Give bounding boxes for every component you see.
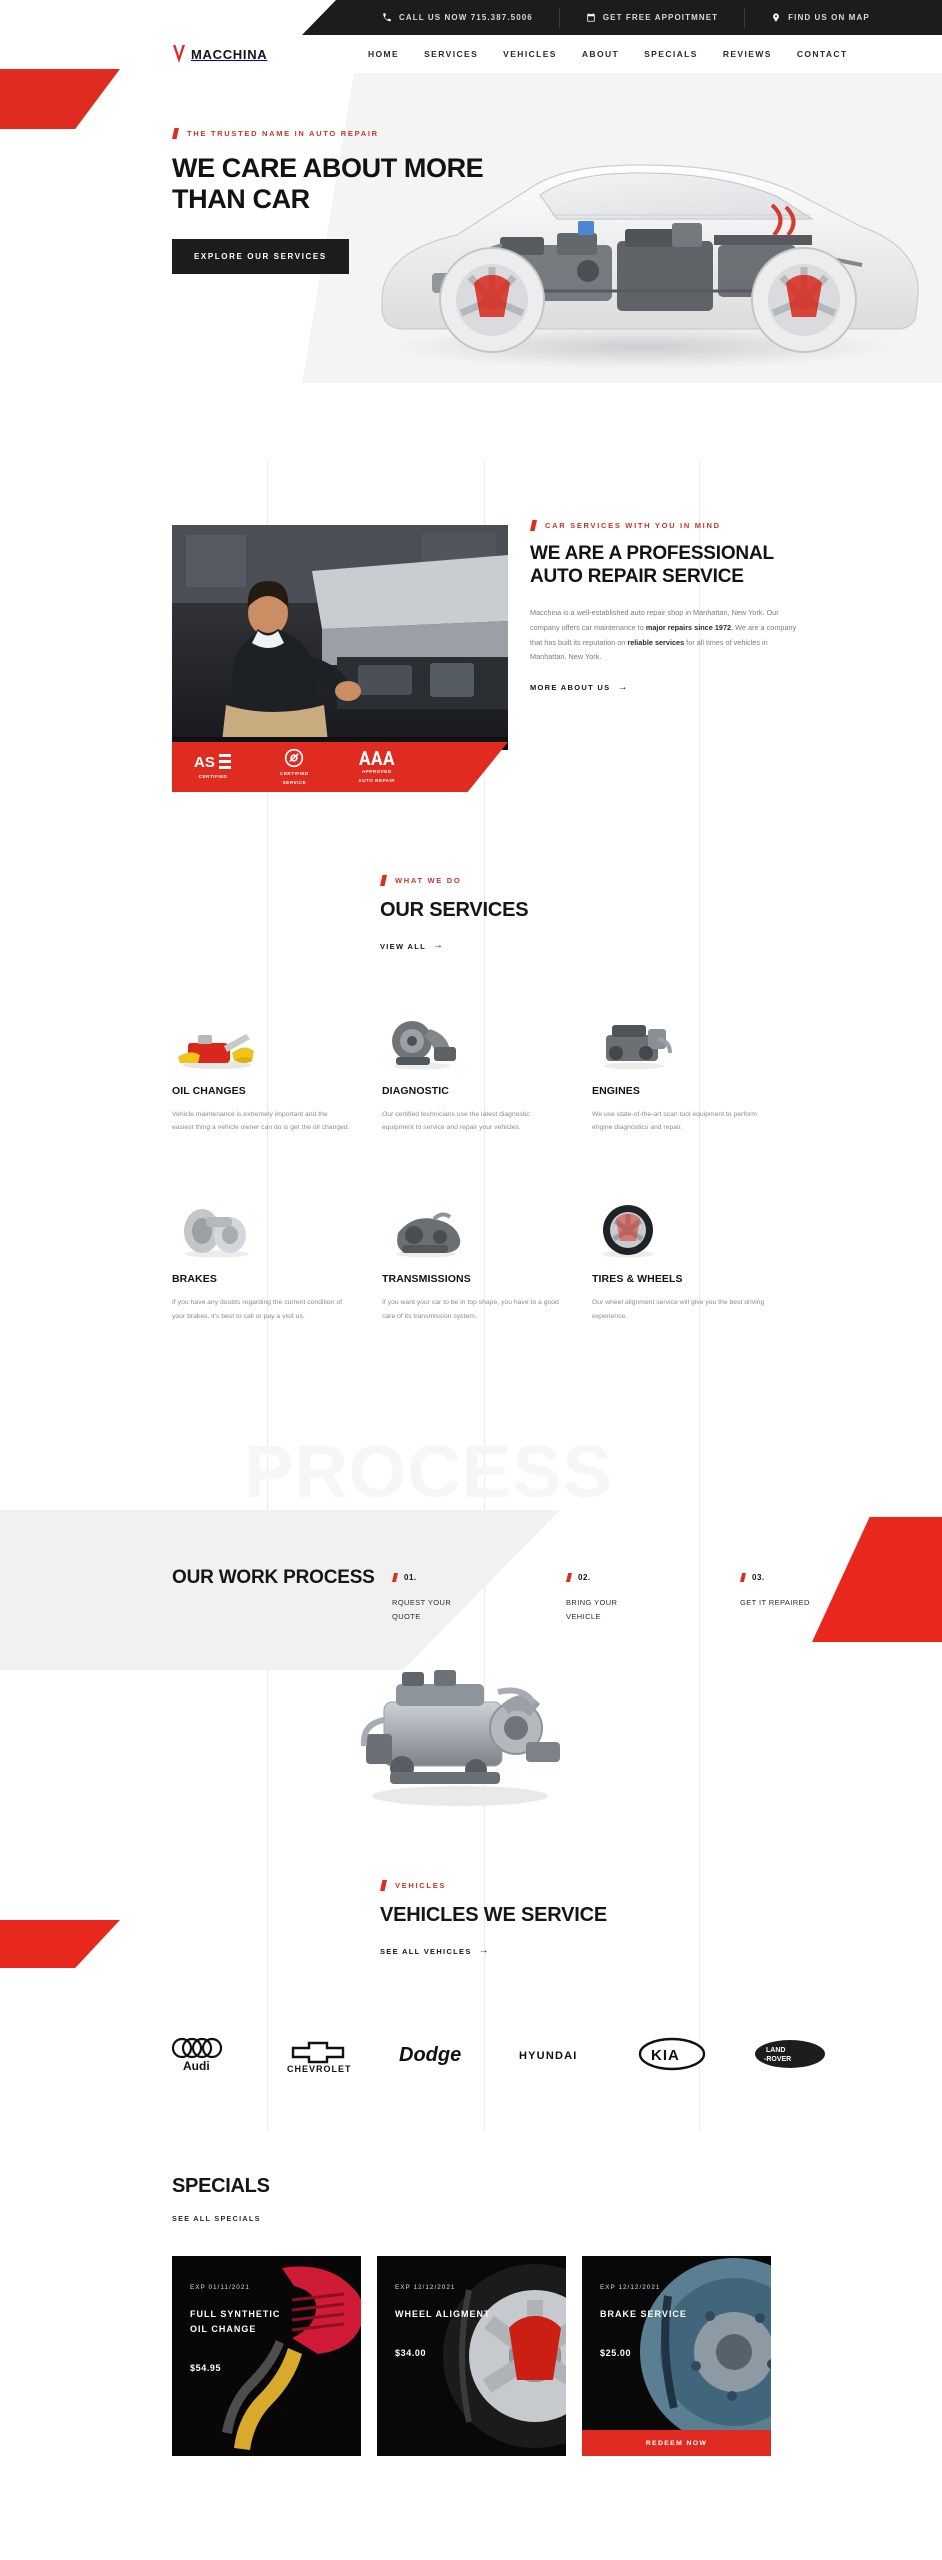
process-section: PROCESS OUR WORK PROCESS 01. RQUEST YOUR… — [0, 1455, 942, 1825]
hero-kicker: THE TRUSTED NAME IN AUTO REPAIR — [172, 128, 512, 139]
vehicles-kicker-label: VEHICLES — [395, 1881, 446, 1890]
process-engine-image — [330, 1650, 590, 1810]
svg-text:AS: AS — [194, 754, 215, 771]
service-card-transmissions[interactable]: TRANSMISSIONS If you want your car to be… — [382, 1197, 560, 1324]
special-expiry: EXP 01/11/2021 — [190, 2284, 361, 2291]
audi-logo[interactable]: Audi — [150, 2031, 250, 2077]
about-title: WE ARE A PROFESSIONAL AUTO REPAIR SERVIC… — [530, 542, 800, 588]
slash-icon — [566, 1573, 572, 1582]
special-price: $54.95 — [190, 2363, 361, 2373]
ase-badge-label: CERTIFIED — [199, 774, 228, 780]
nav-item-vehicles[interactable]: VEHICLES — [503, 49, 557, 59]
find-us-label: FIND US ON MAP — [788, 13, 870, 22]
service-desc: Our wheel alignment service will give yo… — [592, 1296, 770, 1324]
special-title: FULL SYNTHETIC OIL CHANGE — [190, 2307, 300, 2337]
about-b2: reliable services — [627, 638, 684, 647]
service-title: OIL CHANGES — [172, 1085, 350, 1097]
hero-content: THE TRUSTED NAME IN AUTO REPAIR WE CARE … — [172, 128, 512, 274]
vehicle-brand-logos: Audi CHEVROLET Dodge HYUNDAI — [150, 2031, 840, 2077]
process-ghost-text: PROCESS — [244, 1435, 613, 1509]
nav-item-home[interactable]: HOME — [368, 49, 399, 59]
slash-icon — [380, 875, 387, 886]
process-steps: 01. RQUEST YOUR QUOTE 02. BRING YOUR VEH… — [392, 1573, 825, 1624]
service-desc: Vehicle maintenance is extremely importa… — [172, 1108, 350, 1136]
process-step-number: 01. — [392, 1573, 477, 1582]
special-price: $34.00 — [395, 2348, 566, 2358]
svg-text:KIA: KIA — [651, 2047, 680, 2064]
step-number-label: 01. — [404, 1573, 417, 1582]
slash-icon — [380, 1880, 387, 1891]
service-card-diagnostic[interactable]: DIAGNOSTIC Our certified technicians use… — [382, 1009, 560, 1136]
call-us-link[interactable]: CALL US NOW 715.387.5006 — [382, 12, 533, 23]
divider — [559, 8, 560, 28]
step-label: RQUEST YOUR QUOTE — [392, 1596, 477, 1624]
certified-badge-l1: CERTIFIED — [280, 771, 309, 777]
see-all-vehicles-label: SEE ALL VEHICLES — [380, 1947, 472, 1956]
arrow-right-icon: → — [433, 941, 444, 951]
service-title: TIRES & WHEELS — [592, 1273, 770, 1285]
mechanic-photo — [172, 525, 508, 750]
process-step-1: 01. RQUEST YOUR QUOTE — [392, 1573, 477, 1624]
hero-kicker-label: THE TRUSTED NAME IN AUTO REPAIR — [187, 129, 379, 138]
turbocharger-icon — [382, 1009, 560, 1071]
engine-icon — [592, 1009, 770, 1071]
svg-text:-ROVER: -ROVER — [764, 2056, 791, 2063]
main-nav: HOME SERVICES VEHICLES ABOUT SPECIALS RE… — [368, 49, 848, 59]
shield-check-icon — [284, 748, 304, 768]
svg-text:HYUNDAI: HYUNDAI — [519, 2050, 578, 2062]
special-card-brake-service[interactable]: EXP 12/12/2021 BRAKE SERVICE $25.00 REDE… — [582, 2256, 771, 2456]
service-desc: Our certified technicians use the latest… — [382, 1108, 560, 1136]
services-kicker: WHAT WE DO — [380, 875, 942, 886]
special-card-oil-change[interactable]: EXP 01/11/2021 FULL SYNTHETIC OIL CHANGE… — [172, 2256, 361, 2456]
service-desc: If you want your car to be in top shape,… — [382, 1296, 560, 1324]
hero-section: THE TRUSTED NAME IN AUTO REPAIR WE CARE … — [0, 73, 942, 453]
process-step-2: 02. BRING YOUR VEHICLE — [566, 1573, 651, 1624]
wheel-icon — [592, 1197, 770, 1259]
special-title: BRAKE SERVICE — [600, 2307, 710, 2322]
vehicles-kicker: VEHICLES — [380, 1880, 942, 1891]
aaa-approved-badge: APPROVED AUTO REPAIR — [357, 750, 397, 784]
nav-item-about[interactable]: ABOUT — [582, 49, 619, 59]
svg-text:Audi: Audi — [183, 2059, 210, 2073]
nav-item-contact[interactable]: CONTACT — [797, 49, 848, 59]
view-all-label: VIEW ALL — [380, 942, 426, 951]
special-content: EXP 12/12/2021 BRAKE SERVICE $25.00 — [582, 2256, 771, 2358]
phone-icon — [382, 12, 392, 23]
more-about-us-label: MORE ABOUT US — [530, 683, 610, 692]
special-price: $25.00 — [600, 2348, 771, 2358]
transmission-icon — [382, 1197, 560, 1259]
special-expiry: EXP 12/12/2021 — [395, 2284, 566, 2291]
process-step-3: 03. GET IT REPAIRED — [740, 1573, 825, 1624]
about-section: AS CERTIFIED CERTIFIED SERVICE — [0, 520, 942, 820]
utility-bar: CALL US NOW 715.387.5006 GET FREE APPOIT… — [0, 0, 942, 35]
oil-can-icon — [172, 1009, 350, 1071]
hero-title: WE CARE ABOUT MORE THAN CAR — [172, 153, 512, 215]
landrover-logo[interactable]: LAND -ROVER — [740, 2031, 840, 2077]
divider — [744, 8, 745, 28]
special-card-wheel-alignment[interactable]: EXP 12/12/2021 WHEEL ALIGMENT $34.00 — [377, 2256, 566, 2456]
vehicles-header: VEHICLES VEHICLES WE SERVICE SEE ALL VEH… — [380, 1880, 942, 1959]
process-title: OUR WORK PROCESS — [172, 1565, 375, 1591]
brake-disc-icon — [172, 1197, 350, 1259]
aaa-badge-l1: APPROVED — [362, 769, 392, 775]
slash-icon — [530, 520, 537, 531]
landing-page: CALL US NOW 715.387.5006 GET FREE APPOIT… — [0, 0, 942, 2560]
call-us-label: CALL US NOW 715.387.5006 — [399, 13, 533, 22]
ase-certified-badge: AS CERTIFIED — [194, 753, 232, 780]
view-all-services-link[interactable]: VIEW ALL → — [380, 941, 444, 951]
aaa-badge-l2: AUTO REPAIR — [358, 778, 395, 784]
service-title: DIAGNOSTIC — [382, 1085, 560, 1097]
site-header: MACCHINA HOME SERVICES VEHICLES ABOUT SP… — [0, 35, 942, 73]
calendar-icon — [586, 12, 596, 23]
brand-name: MACCHINA — [191, 47, 267, 62]
special-expiry: EXP 12/12/2021 — [600, 2284, 771, 2291]
services-section: WHAT WE DO OUR SERVICES VIEW ALL → — [0, 875, 942, 1324]
redeem-now-button[interactable]: REDEEM NOW — [582, 2430, 771, 2456]
explore-services-button[interactable]: EXPLORE OUR SERVICES — [172, 239, 349, 274]
about-kicker: CAR SERVICES WITH YOU IN MIND — [530, 520, 800, 531]
step-number-label: 02. — [578, 1573, 591, 1582]
v-logo-icon — [172, 44, 186, 64]
kia-logo[interactable]: KIA — [622, 2031, 722, 2077]
dodge-logo[interactable]: Dodge — [386, 2031, 486, 2077]
service-desc: If you have any doubts regarding the cur… — [172, 1296, 350, 1324]
vehicles-red-accent — [0, 1920, 120, 1968]
find-us-link[interactable]: FIND US ON MAP — [771, 12, 870, 23]
certified-service-badge: CERTIFIED SERVICE — [280, 748, 309, 786]
certification-badges: AS CERTIFIED CERTIFIED SERVICE — [172, 742, 508, 792]
see-all-specials-link[interactable]: SEE ALL SPECIALS — [172, 2214, 261, 2223]
nav-item-reviews[interactable]: REVIEWS — [723, 49, 772, 59]
nav-item-services[interactable]: SERVICES — [424, 49, 478, 59]
aaa-logo-icon — [357, 750, 397, 766]
services-grid: OIL CHANGES Vehicle maintenance is extre… — [172, 1009, 772, 1325]
arrow-right-icon: → — [479, 1946, 490, 1956]
svg-text:Dodge: Dodge — [399, 2044, 461, 2066]
about-b1: major repairs since 1972 — [646, 623, 731, 632]
process-step-number: 03. — [740, 1573, 825, 1582]
step-number-label: 03. — [752, 1573, 765, 1582]
appointment-label: GET FREE APPOITMNET — [603, 13, 718, 22]
service-card-brakes[interactable]: BRAKES If you have any doubts regarding … — [172, 1197, 350, 1324]
ase-logo-icon: AS — [194, 753, 232, 771]
brand-logo[interactable]: MACCHINA — [172, 44, 267, 64]
services-kicker-label: WHAT WE DO — [395, 876, 461, 885]
special-title: WHEEL ALIGMENT — [395, 2307, 505, 2322]
nav-item-specials[interactable]: SPECIALS — [644, 49, 698, 59]
services-title: OUR SERVICES — [380, 898, 942, 923]
certified-badge-l2: SERVICE — [283, 780, 307, 786]
chevrolet-logo[interactable]: CHEVROLET — [268, 2031, 368, 2077]
specials-title: SPECIALS — [172, 2175, 942, 2198]
specials-section: SPECIALS SEE ALL SPECIALS EXP 01/11/2021… — [0, 2175, 942, 2456]
services-header: WHAT WE DO OUR SERVICES VIEW ALL → — [380, 875, 942, 954]
see-all-vehicles-link[interactable]: SEE ALL VEHICLES → — [380, 1946, 490, 1956]
about-paragraph: Macchina is a well-established auto repa… — [530, 606, 800, 664]
special-content: EXP 01/11/2021 FULL SYNTHETIC OIL CHANGE… — [172, 2256, 361, 2373]
more-about-us-link[interactable]: MORE ABOUT US → — [530, 683, 629, 693]
service-card-oil-changes[interactable]: OIL CHANGES Vehicle maintenance is extre… — [172, 1009, 350, 1136]
step-label: BRING YOUR VEHICLE — [566, 1596, 651, 1624]
about-kicker-label: CAR SERVICES WITH YOU IN MIND — [545, 521, 721, 530]
appointment-link[interactable]: GET FREE APPOITMNET — [586, 12, 718, 23]
process-step-number: 02. — [566, 1573, 651, 1582]
slash-icon — [392, 1573, 398, 1582]
svg-text:LAND: LAND — [766, 2047, 785, 2054]
slash-icon — [172, 128, 179, 139]
service-title: ENGINES — [592, 1085, 770, 1097]
vehicles-title: VEHICLES WE SERVICE — [380, 1903, 942, 1928]
vehicles-section: VEHICLES VEHICLES WE SERVICE SEE ALL VEH… — [0, 1880, 942, 2077]
service-title: TRANSMISSIONS — [382, 1273, 560, 1285]
svg-text:CHEVROLET: CHEVROLET — [287, 2064, 351, 2074]
about-content: CAR SERVICES WITH YOU IN MIND WE ARE A P… — [530, 520, 800, 695]
step-label: GET IT REPAIRED — [740, 1596, 825, 1610]
hyundai-logo[interactable]: HYUNDAI — [504, 2031, 604, 2077]
service-title: BRAKES — [172, 1273, 350, 1285]
hero-red-accent — [0, 69, 120, 129]
service-card-engines[interactable]: ENGINES We use state-of-the-art scan too… — [592, 1009, 770, 1136]
special-content: EXP 12/12/2021 WHEEL ALIGMENT $34.00 — [377, 2256, 566, 2358]
service-desc: We use state-of-the-art scan tool equipm… — [592, 1108, 770, 1136]
service-card-tires-wheels[interactable]: TIRES & WHEELS Our wheel alignment servi… — [592, 1197, 770, 1324]
slash-icon — [740, 1573, 746, 1582]
process-red-accent — [812, 1517, 942, 1642]
specials-grid: EXP 01/11/2021 FULL SYNTHETIC OIL CHANGE… — [172, 2256, 772, 2456]
map-pin-icon — [771, 12, 781, 23]
arrow-right-icon: → — [617, 683, 628, 693]
